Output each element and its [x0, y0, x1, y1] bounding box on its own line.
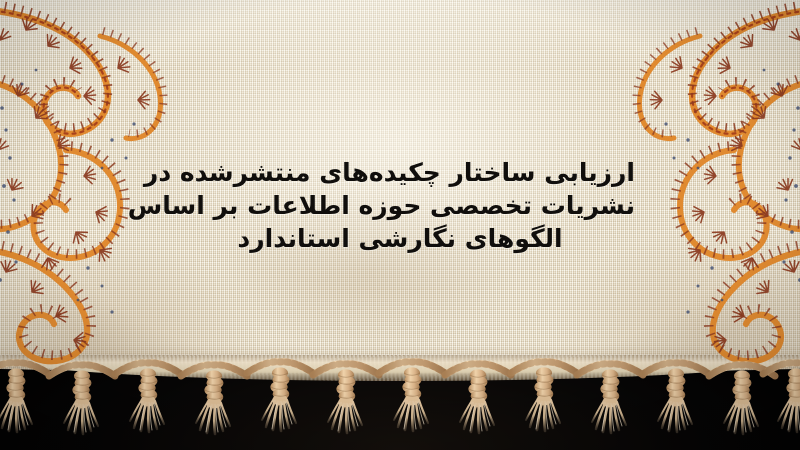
- tassel-row: [0, 362, 800, 434]
- title-line-1: ارزیابی ساختار چکیده‌های منتشرشده در: [165, 156, 635, 189]
- tassel-fringe: [0, 352, 800, 450]
- title-line-3: الگوهای نگارشی استاندارد: [165, 222, 635, 255]
- title-card-stage: ارزیابی ساختار چکیده‌های منتشرشده در نشر…: [0, 0, 800, 450]
- title-line-2: نشریات تخصصی حوزه اطلاعات بر اساس: [165, 189, 635, 222]
- title-block: ارزیابی ساختار چکیده‌های منتشرشده در نشر…: [165, 156, 635, 255]
